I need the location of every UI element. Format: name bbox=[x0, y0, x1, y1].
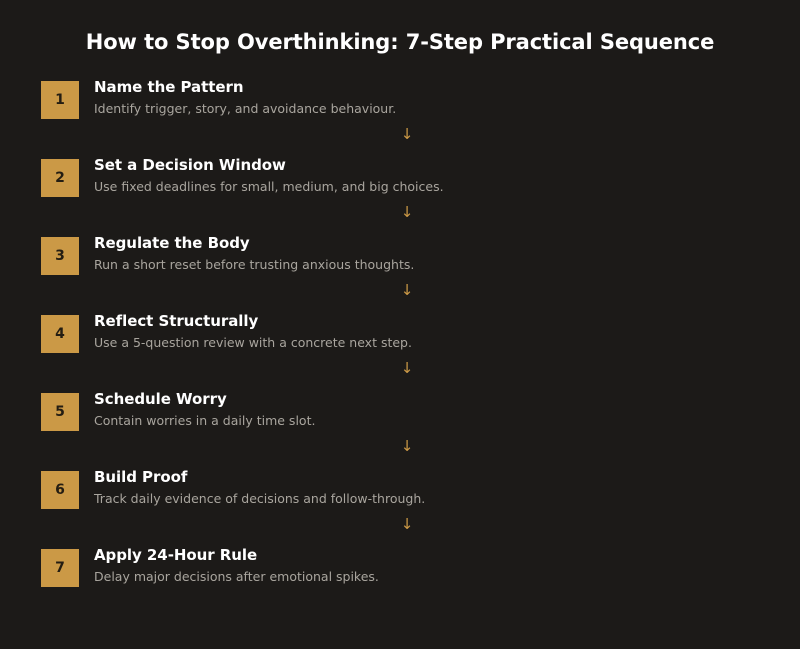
arrow-down-icon: ↓ bbox=[400, 361, 414, 376]
arrow-down-icon: ↓ bbox=[400, 205, 414, 220]
step-title: Regulate the Body bbox=[94, 234, 780, 253]
step-description: Use a 5-question review with a concrete … bbox=[94, 334, 780, 351]
step-description: Track daily evidence of decisions and fo… bbox=[94, 490, 780, 507]
step-number-badge: 6 bbox=[41, 471, 79, 509]
step-row: 2Set a Decision WindowUse fixed deadline… bbox=[0, 159, 800, 198]
step-body: Apply 24-Hour RuleDelay major decisions … bbox=[94, 546, 780, 585]
step-row: 6Build ProofTrack daily evidence of deci… bbox=[0, 471, 800, 510]
step-body: Schedule WorryContain worries in a daily… bbox=[94, 390, 780, 429]
step-row: 7Apply 24-Hour RuleDelay major decisions… bbox=[0, 549, 800, 588]
overthinking-sequence-infographic: How to Stop Overthinking: 7-Step Practic… bbox=[0, 0, 800, 649]
step-number-badge: 3 bbox=[41, 237, 79, 275]
step-body: Reflect StructurallyUse a 5-question rev… bbox=[94, 312, 780, 351]
step-number-badge: 4 bbox=[41, 315, 79, 353]
step-description: Contain worries in a daily time slot. bbox=[94, 412, 780, 429]
step-title: Schedule Worry bbox=[94, 390, 780, 409]
arrow-down-icon: ↓ bbox=[400, 283, 414, 298]
step-description: Run a short reset before trusting anxiou… bbox=[94, 256, 780, 273]
arrow-down-icon: ↓ bbox=[400, 439, 414, 454]
step-number-badge: 7 bbox=[41, 549, 79, 587]
page-title: How to Stop Overthinking: 7-Step Practic… bbox=[0, 30, 800, 54]
step-title: Name the Pattern bbox=[94, 78, 780, 97]
step-title: Set a Decision Window bbox=[94, 156, 780, 175]
step-number-badge: 5 bbox=[41, 393, 79, 431]
step-title: Build Proof bbox=[94, 468, 780, 487]
arrow-down-icon: ↓ bbox=[400, 517, 414, 532]
step-body: Build ProofTrack daily evidence of decis… bbox=[94, 468, 780, 507]
step-description: Delay major decisions after emotional sp… bbox=[94, 568, 780, 585]
step-number-badge: 2 bbox=[41, 159, 79, 197]
step-list: 1Name the PatternIdentify trigger, story… bbox=[0, 81, 800, 588]
step-row: 1Name the PatternIdentify trigger, story… bbox=[0, 81, 800, 120]
step-title: Reflect Structurally bbox=[94, 312, 780, 331]
step-row: 3Regulate the BodyRun a short reset befo… bbox=[0, 237, 800, 276]
step-row: 5Schedule WorryContain worries in a dail… bbox=[0, 393, 800, 432]
step-number-badge: 1 bbox=[41, 81, 79, 119]
step-description: Identify trigger, story, and avoidance b… bbox=[94, 100, 780, 117]
step-body: Set a Decision WindowUse fixed deadlines… bbox=[94, 156, 780, 195]
step-description: Use fixed deadlines for small, medium, a… bbox=[94, 178, 780, 195]
step-title: Apply 24-Hour Rule bbox=[94, 546, 780, 565]
arrow-down-icon: ↓ bbox=[400, 127, 414, 142]
step-body: Name the PatternIdentify trigger, story,… bbox=[94, 78, 780, 117]
step-body: Regulate the BodyRun a short reset befor… bbox=[94, 234, 780, 273]
step-row: 4Reflect StructurallyUse a 5-question re… bbox=[0, 315, 800, 354]
